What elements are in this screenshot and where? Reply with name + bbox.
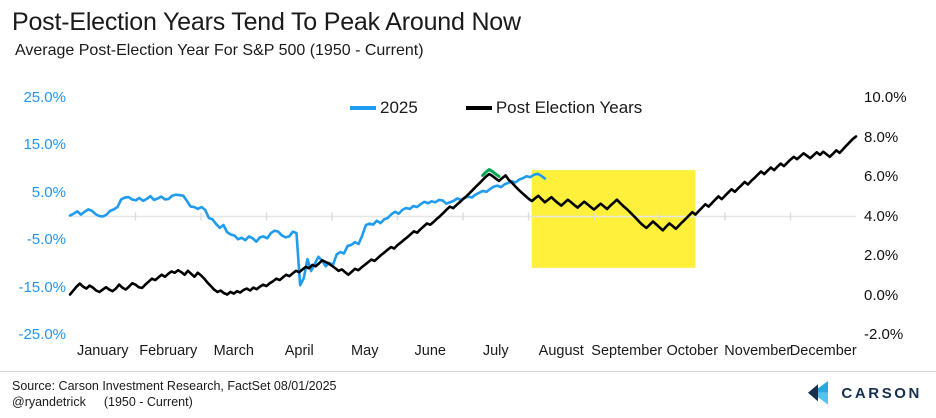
handle-note: (1950 - Current)	[104, 394, 193, 410]
footer-divider	[0, 371, 936, 372]
right-axis-tick: 6.0%	[864, 169, 898, 184]
source-note: Source: Carson Investment Research, Fact…	[12, 378, 336, 410]
handle-line: @ryandetrick (1950 - Current)	[12, 394, 336, 410]
right-axis-tick: 8.0%	[864, 130, 898, 145]
left-axis-tick: -15.0%	[18, 280, 66, 295]
right-axis-tick: 10.0%	[864, 90, 907, 105]
chart-svg	[0, 80, 936, 335]
chart-page: Post-Election Years Tend To Peak Around …	[0, 0, 936, 418]
carson-chevron-icon	[802, 380, 832, 406]
left-axis-tick: 5.0%	[32, 185, 66, 200]
page-title: Post-Election Years Tend To Peak Around …	[12, 8, 521, 37]
right-axis-tick: 0.0%	[864, 288, 898, 303]
month-label-december: December	[778, 344, 868, 359]
source-line: Source: Carson Investment Research, Fact…	[12, 378, 336, 394]
x-axis-month-labels: JanuaryFebruaryMarchAprilMayJuneJulyAugu…	[0, 340, 936, 364]
carson-logo: CARSON	[802, 380, 922, 406]
carson-logo-text: CARSON	[841, 385, 922, 402]
left-axis-tick: 15.0%	[23, 137, 66, 152]
right-axis-tick: 2.0%	[864, 248, 898, 263]
left-axis-tick: 25.0%	[23, 90, 66, 105]
right-axis-tick: 4.0%	[864, 209, 898, 224]
peak-highlight-box	[532, 170, 696, 268]
chart-plot-area[interactable]: 25.0%15.0%5.0%-5.0%-15.0%-25.0% 10.0%8.0…	[0, 80, 936, 335]
page-subtitle: Average Post-Election Year For S&P 500 (…	[15, 42, 424, 60]
author-handle: @ryandetrick	[12, 394, 86, 410]
left-axis-tick: -5.0%	[27, 232, 66, 247]
